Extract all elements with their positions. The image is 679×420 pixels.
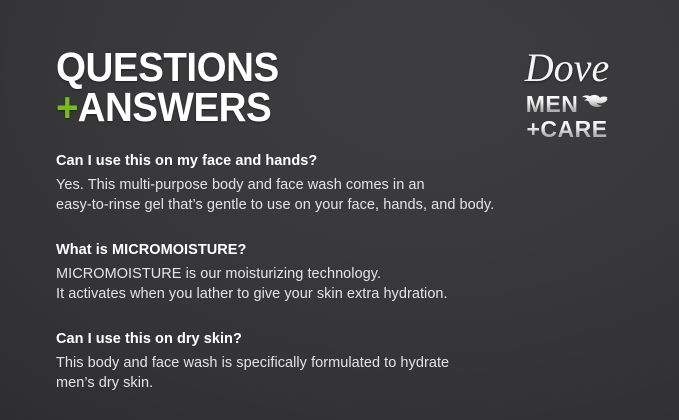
qa-list: Can I use this on my face and hands? Yes… (56, 152, 636, 393)
dove-wordmark: Dove (507, 48, 627, 88)
qa-answer-line: Yes. This multi-purpose body and face wa… (56, 175, 636, 195)
qa-answer: This body and face wash is specifically … (56, 353, 636, 393)
qa-item: Can I use this on dry skin? This body an… (56, 330, 636, 393)
headline-plus-glyph: + (56, 84, 77, 130)
qa-answer: Yes. This multi-purpose body and face wa… (56, 175, 636, 215)
logo-men-row: MEN (507, 93, 627, 116)
qa-answer-line: easy-to-rinse gel that’s gentle to use o… (56, 195, 636, 215)
qa-question: Can I use this on dry skin? (56, 330, 636, 349)
headline-line-answers: +ANSWERS (56, 88, 279, 128)
logo-men-text: MEN (526, 93, 579, 116)
qa-item: Can I use this on my face and hands? Yes… (56, 152, 636, 215)
qa-answer-line: It activates when you lather to give you… (56, 284, 636, 304)
logo-care-text: +CARE (526, 118, 607, 141)
qa-answer-line: MICROMOISTURE is our moisturizing techno… (56, 264, 636, 284)
headline-answers-text: ANSWERS (78, 84, 272, 130)
headline-line-questions: QUESTIONS (56, 48, 279, 88)
dove-men-care-logo: Dove MEN +CARE (507, 48, 627, 141)
qa-answer-line: men’s dry skin. (56, 373, 636, 393)
qa-answer: MICROMOISTURE is our moisturizing techno… (56, 264, 636, 304)
qa-item: What is MICROMOISTURE? MICROMOISTURE is … (56, 241, 636, 304)
page-title: QUESTIONS +ANSWERS (56, 48, 293, 128)
qa-question: Can I use this on my face and hands? (56, 152, 636, 171)
qa-answer-line: This body and face wash is specifically … (56, 353, 636, 373)
logo-care-row: +CARE (507, 118, 627, 141)
dove-bird-icon (582, 94, 608, 113)
slide-canvas: QUESTIONS +ANSWERS Dove MEN (0, 0, 679, 420)
qa-question: What is MICROMOISTURE? (56, 241, 636, 260)
